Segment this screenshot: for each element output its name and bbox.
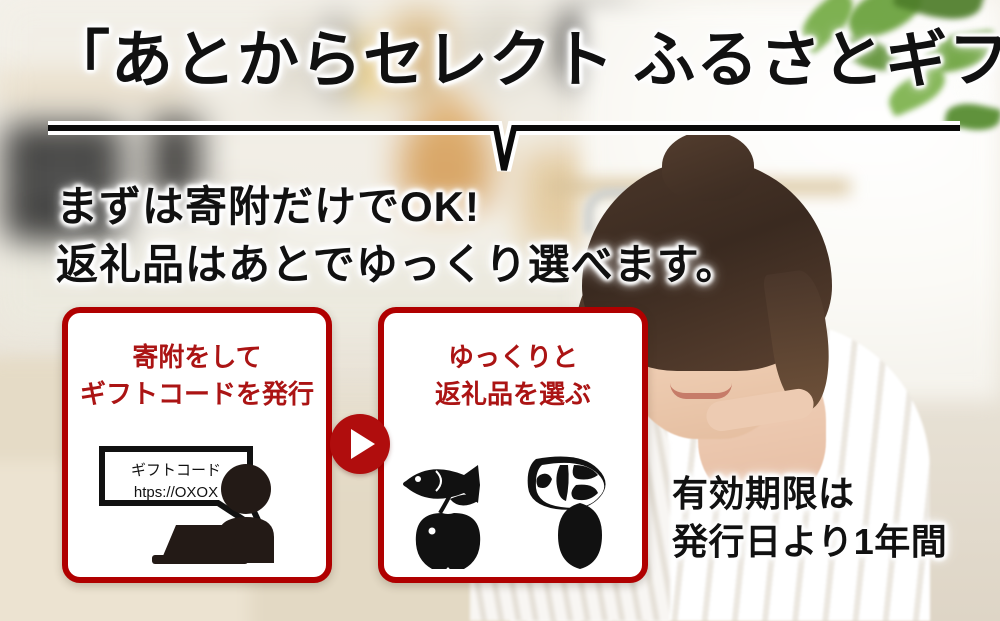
page-title: 「あとからセレクト ふるさとギフト」とは	[48, 30, 960, 92]
select-title-line-2: 返礼品を選ぶ	[384, 376, 642, 413]
validity-note: 有効期限は 発行日より1年間	[672, 470, 947, 566]
person-at-laptop-icon: ギフトコード htps://OXOX	[68, 441, 326, 569]
step-arrow-icon	[330, 414, 390, 474]
select-title-line-1: ゆっくりと	[384, 339, 642, 376]
step-card-donate[interactable]: 寄附をして ギフトコードを発行 ギフトコード htps://OXOX	[62, 307, 332, 583]
donate-title-line-2: ギフトコードを発行	[68, 376, 326, 413]
play-arrow-triangle	[351, 429, 375, 459]
bubble-line-1: ギフトコード	[131, 462, 221, 479]
subtitle: まずは寄附だけでOK! 返礼品はあとでゆっくり選べます。	[56, 178, 739, 294]
divider-with-pointer	[48, 118, 960, 174]
donate-title-line-1: 寄附をして	[68, 339, 326, 376]
mango-icon	[558, 503, 602, 569]
validity-line-2: 発行日より1年間	[672, 518, 947, 566]
step-card-select-title: ゆっくりと 返礼品を選ぶ	[384, 339, 642, 413]
reward-icons-grid	[384, 441, 642, 569]
subtitle-line-2: 返礼品はあとでゆっくり選べます。	[56, 236, 739, 294]
step-card-donate-title: 寄附をして ギフトコードを発行	[68, 339, 326, 413]
subtitle-line-1: まずは寄附だけでOK!	[56, 178, 739, 236]
step-card-select[interactable]: ゆっくりと 返礼品を選ぶ	[378, 307, 648, 583]
bubble-line-2: htps://OXOX	[134, 484, 218, 501]
meat-icon	[528, 457, 606, 510]
validity-line-1: 有効期限は	[672, 470, 947, 518]
apple-icon	[416, 494, 480, 569]
